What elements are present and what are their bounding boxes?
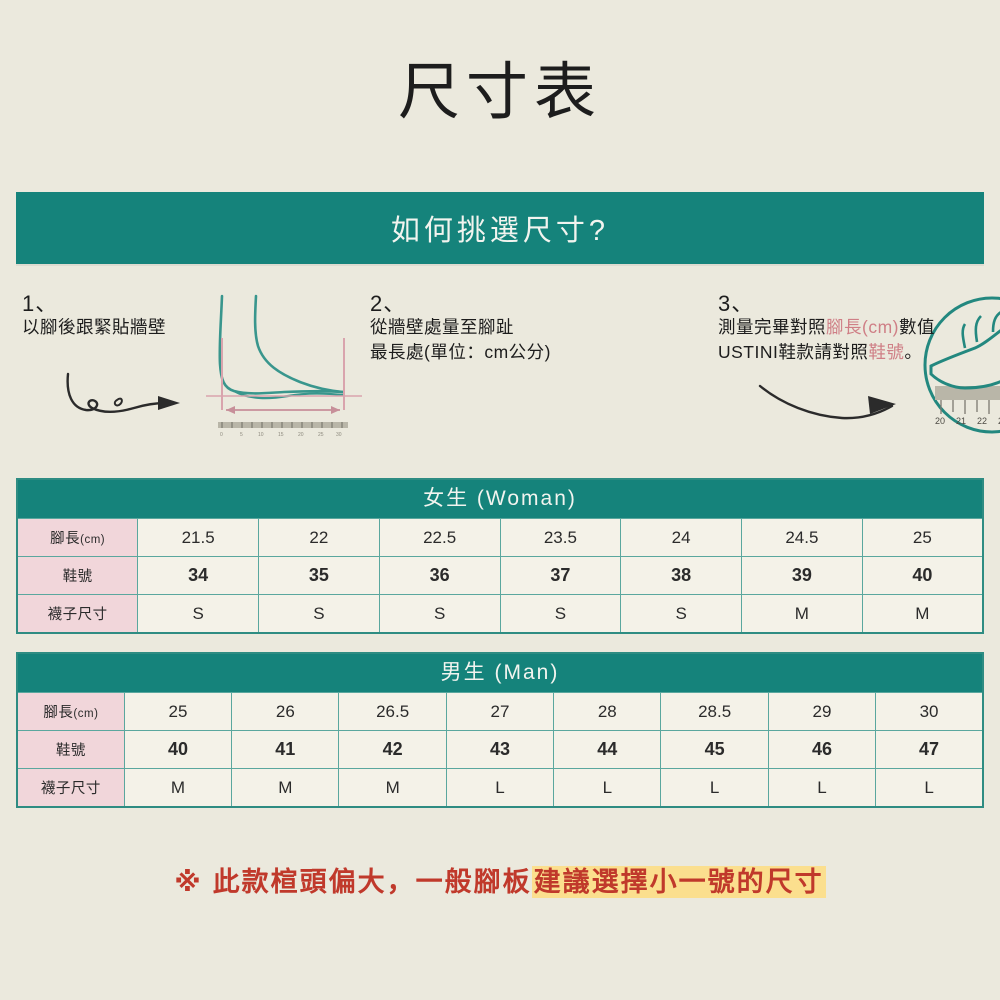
cell-r1-c3: 43 — [446, 731, 553, 769]
cell-r1-c5: 39 — [742, 557, 863, 595]
step-2-text-line1: 從牆壁處量至腳趾 — [370, 315, 710, 340]
cell-r2-c0: S — [138, 595, 259, 634]
ruler-tick-labels: 202122 232425 — [935, 416, 1000, 426]
table-row: 襪子尺寸SSSSSMM — [17, 595, 983, 634]
table-woman-caption-row: 女生 (Woman) — [17, 479, 983, 519]
svg-text:20: 20 — [298, 432, 304, 438]
cell-r1-c4: 38 — [621, 557, 742, 595]
cell-r1-c6: 46 — [768, 731, 875, 769]
footnote-plain: 此款楦頭偏大，一般腳板 — [213, 867, 532, 897]
cell-r2-c3: S — [500, 595, 621, 634]
footnote: ※此款楦頭偏大，一般腳板建議選擇小一號的尺寸 — [0, 860, 1000, 899]
table-man-body: 腳長(cm)252626.5272828.52930鞋號404142434445… — [17, 693, 983, 808]
row-label-1: 鞋號 — [17, 557, 138, 595]
row-label-unit: (cm) — [73, 708, 98, 720]
step-3: 3、 測量完畢對照腳長(cm)數值 USTINI鞋款請對照鞋號。 — [718, 292, 998, 366]
curved-arrow-right-icon — [62, 370, 202, 422]
cell-r0-c4: 24 — [621, 519, 742, 557]
step-3-line2-suffix: 。 — [904, 342, 922, 362]
cell-r1-c4: 44 — [554, 731, 661, 769]
step-3-line2-prefix: USTINI鞋款請對照 — [718, 342, 868, 362]
size-chart-page: 尺寸表 如何挑選尺寸? 1、 以腳後跟緊貼牆壁 — [0, 0, 1000, 1000]
cell-r0-c1: 22 — [259, 519, 380, 557]
size-table-man: 男生 (Man) 腳長(cm)252626.5272828.52930鞋號404… — [16, 652, 984, 808]
cell-r0-c6: 29 — [768, 693, 875, 731]
size-table-woman: 女生 (Woman) 腳長(cm)21.52222.523.52424.525鞋… — [16, 478, 984, 634]
cell-r2-c4: L — [554, 769, 661, 808]
cell-r1-c2: 36 — [379, 557, 500, 595]
cell-r2-c3: L — [446, 769, 553, 808]
foot-side-profile-diagram: 05 1015 2025 30 — [204, 292, 364, 442]
table-woman-body: 腳長(cm)21.52222.523.52424.525鞋號3435363738… — [17, 519, 983, 634]
step-3-text-line2: USTINI鞋款請對照鞋號。 — [718, 340, 998, 365]
svg-text:10: 10 — [258, 432, 264, 438]
instruction-steps: 1、 以腳後跟緊貼牆壁 — [0, 292, 1000, 467]
band-label: 如何挑選尺寸? — [391, 207, 609, 249]
svg-text:5: 5 — [240, 432, 243, 438]
cell-r1-c0: 34 — [138, 557, 259, 595]
table-row: 襪子尺寸MMMLLLLL — [17, 769, 983, 808]
cell-r1-c3: 37 — [500, 557, 621, 595]
row-label-2: 襪子尺寸 — [17, 595, 138, 634]
row-label-2: 襪子尺寸 — [17, 769, 124, 808]
row-label-unit: (cm) — [80, 534, 105, 546]
cell-r2-c4: S — [621, 595, 742, 634]
cell-r2-c1: M — [232, 769, 339, 808]
cell-r2-c7: L — [876, 769, 983, 808]
step-2: 2、 從牆壁處量至腳趾 最長處(單位：cm公分) 20212 — [370, 292, 710, 366]
curved-arrow-right-icon — [756, 382, 916, 426]
cell-r2-c2: S — [379, 595, 500, 634]
step-2-text-line2: 最長處(單位：cm公分) — [370, 340, 710, 365]
cell-r2-c1: S — [259, 595, 380, 634]
table-row: 腳長(cm)21.52222.523.52424.525 — [17, 519, 983, 557]
table-woman-caption: 女生 (Woman) — [17, 479, 983, 519]
step-3-text-line1: 測量完畢對照腳長(cm)數值 — [718, 315, 998, 340]
cell-r2-c6: M — [862, 595, 983, 634]
step-3-line1-prefix: 測量完畢對照 — [718, 317, 826, 337]
page-title: 尺寸表 — [0, 62, 1000, 124]
table-man-caption-row: 男生 (Man) — [17, 653, 983, 693]
step-1: 1、 以腳後跟緊貼牆壁 — [22, 292, 352, 340]
table-row: 腳長(cm)252626.5272828.52930 — [17, 693, 983, 731]
cell-r0-c7: 30 — [876, 693, 983, 731]
svg-text:22: 22 — [977, 416, 987, 426]
cell-r2-c6: L — [768, 769, 875, 808]
step-3-line1-suffix: 數值 — [899, 317, 935, 337]
footnote-mark-icon: ※ — [174, 867, 202, 897]
cell-r1-c1: 35 — [259, 557, 380, 595]
table-man-caption: 男生 (Man) — [17, 653, 983, 693]
row-label-1: 鞋號 — [17, 731, 124, 769]
cell-r0-c3: 23.5 — [500, 519, 621, 557]
svg-text:0: 0 — [220, 432, 223, 438]
svg-text:25: 25 — [318, 432, 324, 438]
step-3-line2-highlight: 鞋號 — [868, 342, 904, 362]
cell-r0-c0: 21.5 — [138, 519, 259, 557]
cell-r0-c5: 28.5 — [661, 693, 768, 731]
cell-r1-c7: 47 — [876, 731, 983, 769]
cell-r0-c2: 22.5 — [379, 519, 500, 557]
row-label-0: 腳長(cm) — [17, 519, 138, 557]
cell-r1-c0: 40 — [124, 731, 231, 769]
cell-r0-c0: 25 — [124, 693, 231, 731]
cell-r2-c5: L — [661, 769, 768, 808]
table-row: 鞋號34353637383940 — [17, 557, 983, 595]
svg-text:20: 20 — [935, 416, 945, 426]
cell-r1-c5: 45 — [661, 731, 768, 769]
svg-text:15: 15 — [278, 432, 284, 438]
cell-r1-c6: 40 — [862, 557, 983, 595]
cell-r2-c0: M — [124, 769, 231, 808]
footnote-highlight: 建議選擇小一號的尺寸 — [532, 866, 826, 898]
cell-r0-c4: 28 — [554, 693, 661, 731]
step-3-line1-highlight: 腳長(cm) — [826, 317, 899, 337]
cell-r0-c1: 26 — [232, 693, 339, 731]
cell-r0-c2: 26.5 — [339, 693, 446, 731]
row-label-0: 腳長(cm) — [17, 693, 124, 731]
svg-text:30: 30 — [336, 432, 342, 438]
cell-r0-c5: 24.5 — [742, 519, 863, 557]
cell-r1-c2: 42 — [339, 731, 446, 769]
how-to-choose-band: 如何挑選尺寸? — [16, 192, 984, 264]
table-row: 鞋號4041424344454647 — [17, 731, 983, 769]
cell-r2-c2: M — [339, 769, 446, 808]
cell-r0-c6: 25 — [862, 519, 983, 557]
step-2-number: 2、 — [370, 292, 710, 315]
step-3-number: 3、 — [718, 292, 998, 315]
cell-r0-c3: 27 — [446, 693, 553, 731]
svg-text:21: 21 — [956, 416, 966, 426]
cell-r1-c1: 41 — [232, 731, 339, 769]
cell-r2-c5: M — [742, 595, 863, 634]
